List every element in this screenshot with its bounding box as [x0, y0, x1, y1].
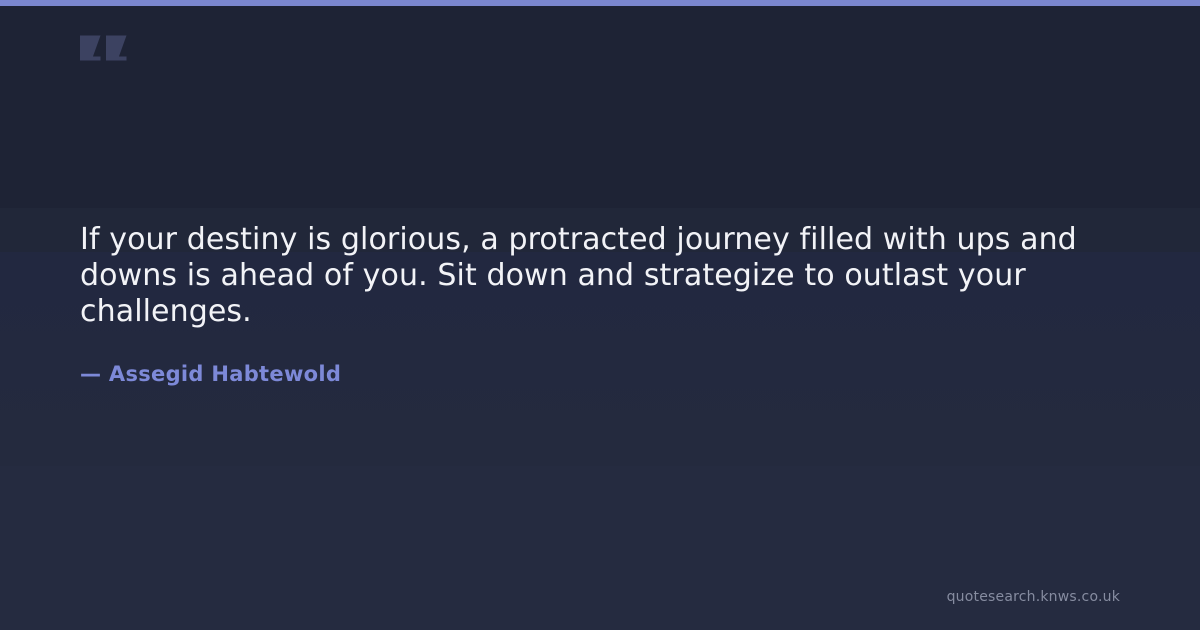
site-watermark: quotesearch.knws.co.uk	[947, 588, 1120, 606]
quote-text: If your destiny is glorious, a protracte…	[80, 222, 1090, 330]
quote-attribution: — Assegid Habtewold	[80, 330, 1090, 387]
top-accent-bar	[0, 0, 1200, 6]
quote-card: If your destiny is glorious, a protracte…	[0, 0, 1200, 630]
quote-content: If your destiny is glorious, a protracte…	[80, 222, 1090, 387]
double-open-quote-icon	[78, 14, 148, 86]
